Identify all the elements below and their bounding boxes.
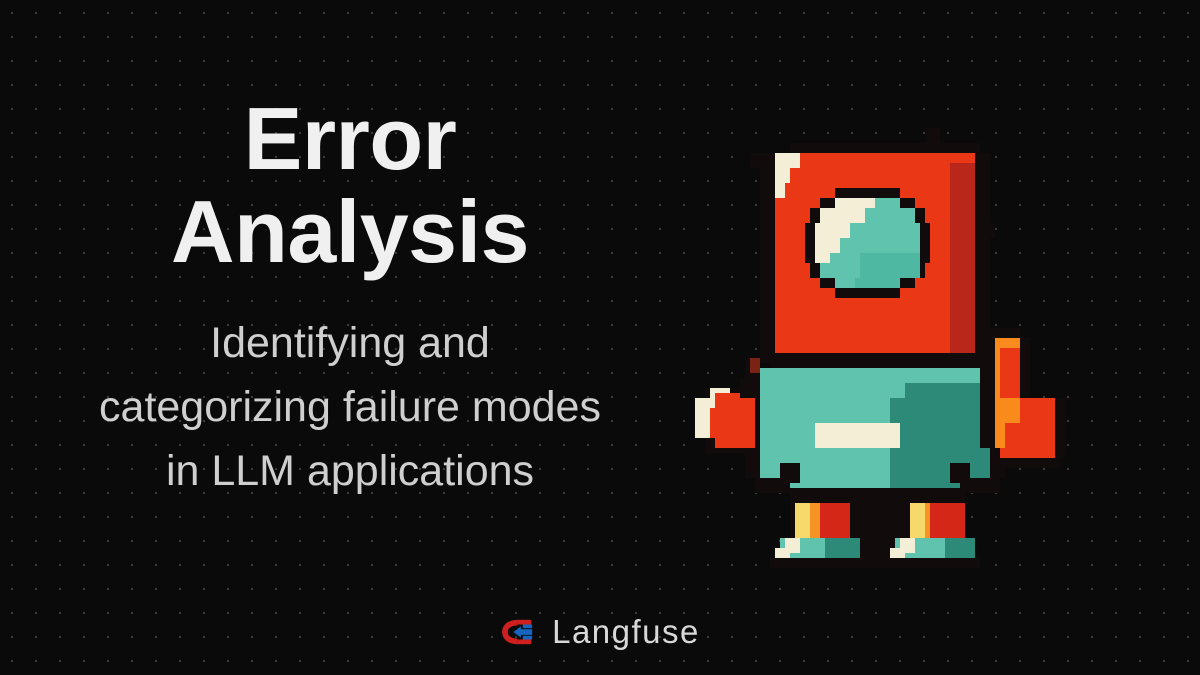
brand-footer: Langfuse (0, 613, 1200, 651)
slide-canvas: Error Analysis Identifying and categoriz… (0, 0, 1200, 675)
page-subtitle: Identifying and categorizing failure mod… (99, 312, 601, 503)
robot-right-hand (980, 328, 1065, 468)
robot-torso (745, 368, 1005, 498)
robot-head (750, 128, 995, 368)
brand-name-label: Langfuse (552, 613, 700, 651)
page-title: Error Analysis (171, 92, 529, 279)
langfuse-logo-icon (500, 617, 538, 647)
robot-left-hand (695, 358, 760, 453)
robot-legs (770, 488, 980, 568)
robot-eye (805, 188, 930, 298)
text-content-column: Error Analysis Identifying and categoriz… (0, 0, 700, 595)
pixel-art-robot-illustration (690, 108, 1070, 568)
mascot-container (690, 108, 1070, 568)
